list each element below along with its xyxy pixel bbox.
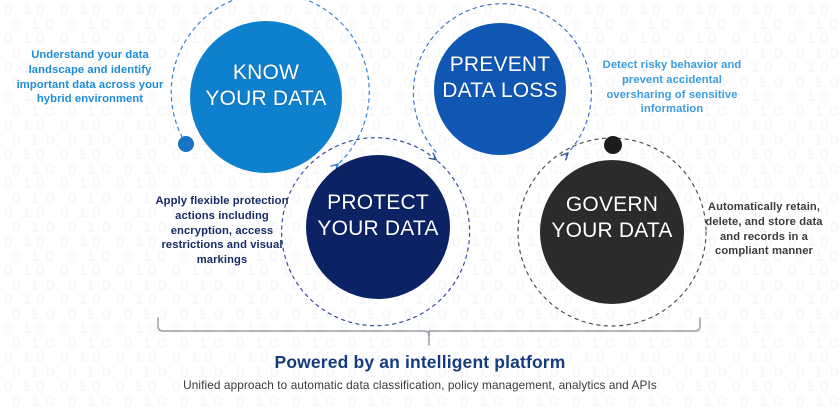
orbit-dot-govern — [604, 136, 622, 154]
circle-know[interactable] — [190, 21, 342, 173]
footer-subtitle: Unified approach to automatic data class… — [0, 378, 840, 392]
circle-label-prevent-line1: PREVENT — [412, 52, 588, 78]
circle-label-prevent-line2: DATA LOSS — [412, 78, 588, 104]
circle-label-govern-line2: YOUR DATA — [524, 218, 700, 244]
orbit-ring-govern — [518, 138, 706, 326]
circle-label-protect-line1: PROTECT — [290, 190, 466, 216]
footer-block: Powered by an intelligent platform Unifi… — [0, 352, 840, 392]
circle-prevent[interactable] — [434, 23, 566, 155]
circle-label-govern-line1: GOVERN — [524, 192, 700, 218]
circle-govern[interactable] — [540, 160, 684, 304]
orbit-ring-protect — [282, 138, 470, 326]
orbit-dot-know — [178, 136, 194, 152]
summary-brace — [158, 318, 700, 345]
caption-govern: Automatically retain, delete, and store … — [694, 200, 834, 259]
circle-label-govern: GOVERN YOUR DATA — [524, 192, 700, 245]
circle-protect[interactable] — [306, 155, 450, 299]
caption-protect: Apply flexible protection actions includ… — [152, 194, 292, 268]
footer-title: Powered by an intelligent platform — [0, 352, 840, 373]
caption-prevent: Detect risky behavior and prevent accide… — [592, 58, 752, 117]
circle-label-prevent: PREVENT DATA LOSS — [412, 52, 588, 105]
circle-label-know-line1: KNOW — [178, 60, 354, 86]
orbit-ring-prevent — [413, 4, 591, 155]
caption-know: Understand your data landscape and ident… — [4, 48, 176, 107]
circle-label-know: KNOW YOUR DATA — [178, 60, 354, 113]
orbit-ring-know — [171, 0, 369, 166]
circle-label-know-line2: YOUR DATA — [178, 86, 354, 112]
circle-label-protect: PROTECT YOUR DATA — [290, 190, 466, 243]
infographic-canvas: 0 1 0 1 0 1 0 — [0, 0, 840, 407]
circle-label-protect-line2: YOUR DATA — [290, 216, 466, 242]
